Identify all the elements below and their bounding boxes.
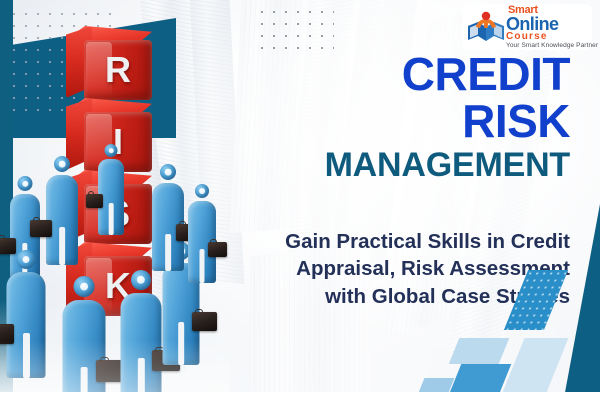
figure-head: [18, 176, 33, 191]
figure-leg-gap: [59, 227, 65, 265]
figure-leg-gap: [199, 249, 204, 283]
briefcase: [86, 194, 103, 208]
decor-bottom-white-strip: [0, 392, 600, 400]
figure-leg-gap: [165, 234, 171, 271]
brand-logo[interactable]: Smart Online Course Your Smart Knowledge…: [462, 4, 592, 50]
headline-block: CREDIT RISK MANAGEMENT: [190, 52, 570, 182]
briefcase: [192, 312, 217, 331]
figure-head: [54, 156, 70, 172]
decor-parallelogram-lightblue: [449, 338, 510, 364]
headline-line-credit: CREDIT: [190, 52, 570, 97]
headline-line-management: MANAGEMENT: [190, 148, 570, 182]
figure-leg-gap: [109, 203, 114, 235]
book-person-icon: [466, 10, 506, 44]
course-promo-banner: R I S K: [0, 0, 600, 400]
briefcase: [208, 242, 227, 257]
person-figure: [96, 144, 126, 236]
briefcase: [30, 220, 52, 237]
businesspeople-group: [0, 150, 230, 400]
person-figure: [186, 184, 218, 284]
logo-wordmark: Smart Online Course Your Smart Knowledge…: [506, 5, 598, 50]
risk-block: R: [66, 26, 152, 100]
figure-head: [74, 276, 95, 297]
risk-letter: R: [84, 40, 152, 100]
figure-reflection: [0, 340, 230, 400]
decor-dot-grid-top: [256, 6, 334, 50]
figure-head: [131, 270, 151, 290]
person-figure: [150, 164, 186, 272]
figure-head: [160, 164, 176, 180]
figure-head: [105, 144, 118, 157]
headline-line-risk: RISK: [190, 99, 570, 144]
figure-head: [195, 184, 209, 198]
person-figure: [44, 156, 80, 266]
figure-head: [17, 250, 36, 269]
logo-word-course: Course: [506, 32, 548, 42]
